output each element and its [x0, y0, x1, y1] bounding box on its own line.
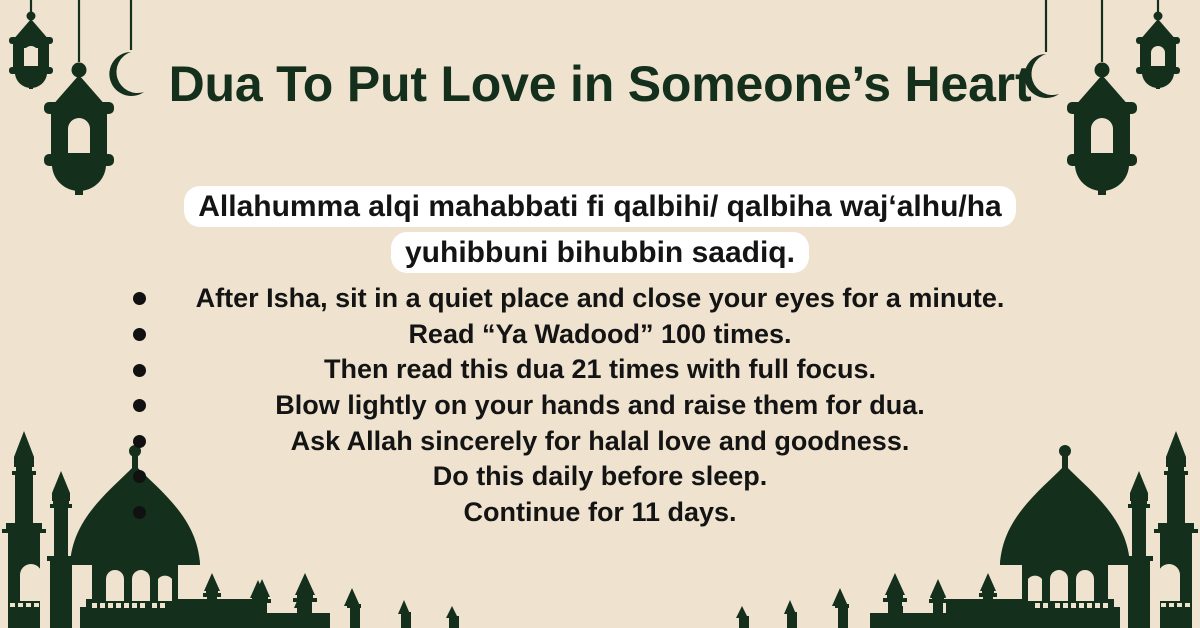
list-item: After Isha, sit in a quiet place and clo…	[0, 281, 1200, 317]
steps-list: After Isha, sit in a quiet place and clo…	[0, 281, 1200, 530]
step-text: Do this daily before sleep.	[160, 459, 1040, 495]
bullet-point-icon	[133, 399, 146, 412]
bullet-point-icon	[133, 435, 146, 448]
poster-canvas: Dua To Put Love in Someone’s Heart Allah…	[0, 0, 1200, 628]
list-item: Blow lightly on your hands and raise the…	[0, 388, 1200, 424]
step-text: Read “Ya Wadood” 100 times.	[160, 317, 1040, 353]
list-item: Ask Allah sincerely for halal love and g…	[0, 424, 1200, 460]
bullet-point-icon	[133, 506, 146, 519]
bullet-point-icon	[133, 470, 146, 483]
dua-line-2: yuhibbuni bihubbin saadiq.	[391, 232, 809, 273]
page-title: Dua To Put Love in Someone’s Heart	[160, 56, 1040, 112]
dua-line-1: Allahumma alqi mahabbati fi qalbihi/ qal…	[184, 186, 1015, 227]
bullet-point-icon	[133, 292, 146, 305]
bullet-point-icon	[133, 328, 146, 341]
bullet-point-icon	[133, 364, 146, 377]
list-item: Do this daily before sleep.	[0, 459, 1200, 495]
list-item: Continue for 11 days.	[0, 495, 1200, 531]
step-text: Continue for 11 days.	[160, 495, 1040, 531]
step-text: Then read this dua 21 times with full fo…	[160, 352, 1040, 388]
dua-highlight-box: Allahumma alqi mahabbati fi qalbihi/ qal…	[100, 184, 1100, 275]
step-text: After Isha, sit in a quiet place and clo…	[160, 281, 1040, 317]
step-text: Blow lightly on your hands and raise the…	[160, 388, 1040, 424]
list-item: Read “Ya Wadood” 100 times.	[0, 317, 1200, 353]
step-text: Ask Allah sincerely for halal love and g…	[160, 424, 1040, 460]
list-item: Then read this dua 21 times with full fo…	[0, 352, 1200, 388]
